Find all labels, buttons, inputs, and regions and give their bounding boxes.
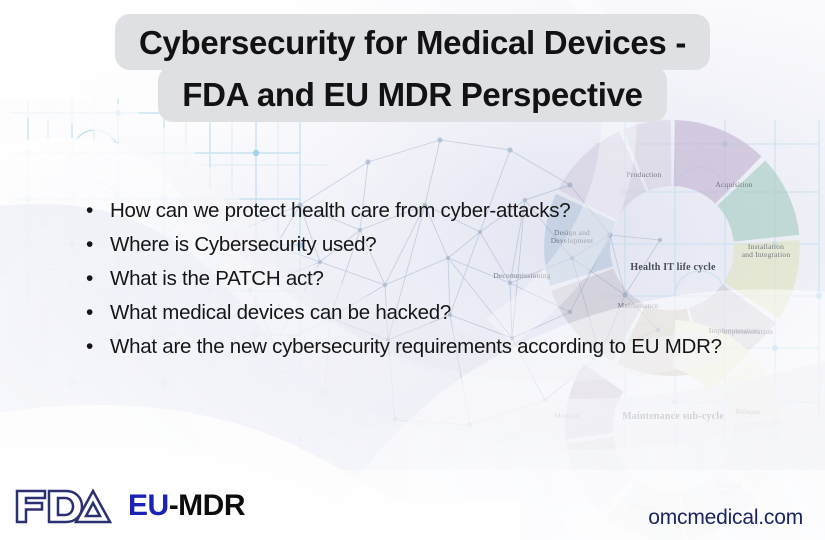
eu-mdr-wordmark: EU-MDR [128,491,245,521]
list-item-label: What are the new cybersecurity requireme… [110,332,786,361]
bullet-point-icon: • [86,332,110,361]
title-line-2: FDA and EU MDR Perspective [0,66,825,122]
bullet-point-icon: • [86,264,110,293]
wheel-label-acquisition: Acquisition [694,181,774,189]
wheel-center-label-maintenance-sub-cycle: Maintenance sub-cycle [603,411,743,422]
bullet-list: • How can we protect health care from cy… [86,196,786,366]
list-item: • How can we protect health care from cy… [86,196,786,225]
wheel-label-monitor: Monitor [537,412,597,420]
bullet-point-icon: • [86,298,110,327]
list-item: • What are the new cybersecurity require… [86,332,786,361]
list-item: • What is the PATCH act? [86,264,786,293]
website-url: omcmedical.com [648,506,803,530]
slide-title: Cybersecurity for Medical Devices - FDA … [0,0,825,122]
title-line-1-text: Cybersecurity for Medical Devices - [115,14,710,70]
title-line-1: Cybersecurity for Medical Devices - [0,14,825,70]
bullet-point-icon: • [86,196,110,225]
wheel-label-test-and-verify: Test and verify [698,481,758,498]
list-item-label: Where is Cybersecurity used? [110,230,786,259]
eu-mdr-eu-text: EU [128,489,169,522]
list-item-label: What is the PATCH act? [110,264,786,293]
list-item: • Where is Cybersecurity used? [86,230,786,259]
slide-canvas: Production Acquisition Installation and … [0,0,825,540]
list-item-label: How can we protect health care from cybe… [110,196,786,225]
title-line-2-text: FDA and EU MDR Perspective [158,66,666,122]
bullet-point-icon: • [86,230,110,259]
wheel-label-production: Production [608,171,680,179]
list-item: • What medical devices can be hacked? [86,298,786,327]
fda-logo-icon [14,486,112,526]
footer-logo-group: EU-MDR [14,486,245,526]
eu-mdr-mdr-text: -MDR [169,489,245,522]
list-item-label: What medical devices can be hacked? [110,298,786,327]
